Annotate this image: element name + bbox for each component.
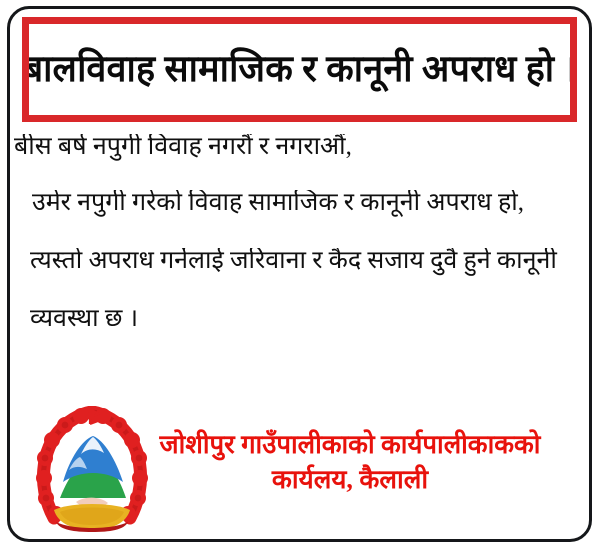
poster-title: बालविवाह सामाजिक र कानूनी अपराध हो । <box>22 49 577 90</box>
title-banner: बालविवाह सामाजिक र कानूनी अपराध हो । <box>22 17 577 122</box>
poster-footer: जोशीपुर गाउँपालीकाको कार्यपालीकाकको कार्… <box>18 404 578 534</box>
poster-body: बीस बर्ष नपुगी विवाह नगरौं र नगराऔं, उमे… <box>14 134 584 358</box>
body-line-4: व्यवस्था छ । <box>30 306 584 358</box>
office-name-line-2: कार्यलय, कैलाली <box>122 463 578 498</box>
office-name-line-1: जोशीपुर गाउँपालीकाको कार्यपालीकाकको <box>124 428 575 463</box>
poster-canvas: बालविवाह सामाजिक र कानूनी अपराध हो । बीस… <box>0 0 600 550</box>
body-line-2: उमेर नपुगी गरेको विवाह सामाजिक र कानूनी … <box>32 190 584 248</box>
body-line-3: त्यस्तो अपराध गर्नेलाई जरिवाना र कैद सजा… <box>30 248 584 306</box>
body-line-1: बीस बर्ष नपुगी विवाह नगरौं र नगराऔं, <box>14 134 584 190</box>
office-name: जोशीपुर गाउँपालीकाको कार्यपालीकाकको कार्… <box>122 428 578 497</box>
